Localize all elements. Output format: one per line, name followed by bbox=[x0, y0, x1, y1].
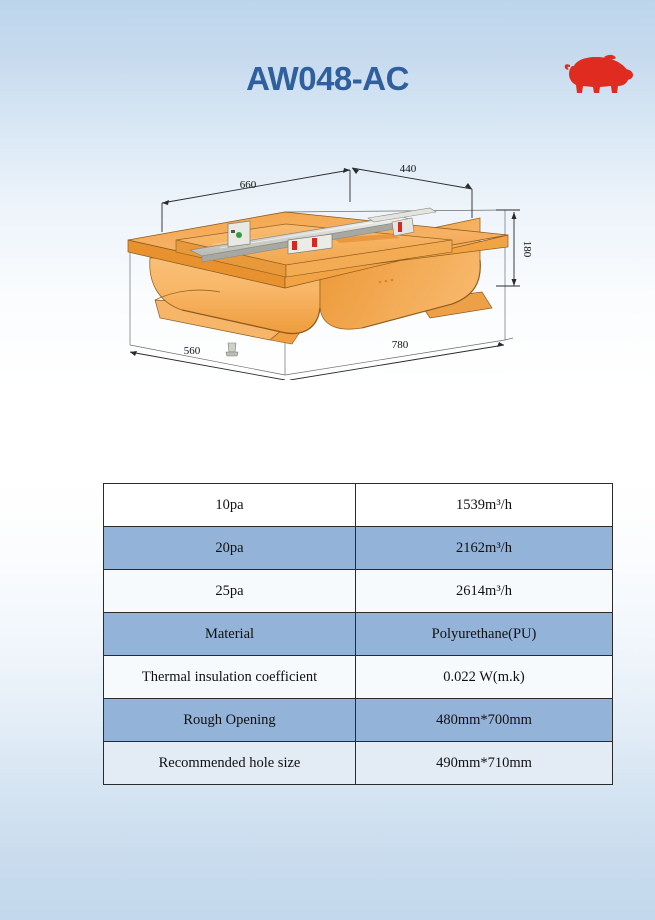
spec-label-cell: Recommended hole size bbox=[104, 742, 356, 785]
product-datasheet-page: AW048-AC bbox=[0, 0, 655, 920]
spec-value-cell: 2162m³/h bbox=[356, 527, 613, 570]
spec-value-cell: 490mm*710mm bbox=[356, 742, 613, 785]
table-row: Recommended hole size 490mm*710mm bbox=[104, 742, 613, 785]
dimension-label-660: 660 bbox=[240, 179, 257, 191]
spec-value-cell: Polyurethane(PU) bbox=[356, 613, 613, 656]
dimension-label-560: 560 bbox=[184, 345, 201, 357]
table-row: Material Polyurethane(PU) bbox=[104, 613, 613, 656]
spec-value-cell: 0.022 W(m.k) bbox=[356, 656, 613, 699]
table-row: 10pa 1539m³/h bbox=[104, 484, 613, 527]
dimension-label-780: 780 bbox=[392, 339, 409, 351]
spec-label-cell: Material bbox=[104, 613, 356, 656]
pig-logo-icon bbox=[560, 50, 634, 98]
dimension-label-180: 180 bbox=[521, 241, 533, 258]
spec-value-cell: 1539m³/h bbox=[356, 484, 613, 527]
page-header: AW048-AC bbox=[0, 0, 655, 140]
product-body bbox=[128, 208, 508, 356]
table-row: 20pa 2162m³/h bbox=[104, 527, 613, 570]
spec-label-cell: 25pa bbox=[104, 570, 356, 613]
spec-label-cell: Rough Opening bbox=[104, 699, 356, 742]
spec-label-cell: Thermal insulation coefficient bbox=[104, 656, 356, 699]
spec-label-cell: 20pa bbox=[104, 527, 356, 570]
page-title: AW048-AC bbox=[0, 58, 655, 100]
spec-value-cell: 480mm*700mm bbox=[356, 699, 613, 742]
table-row: 25pa 2614m³/h bbox=[104, 570, 613, 613]
spec-value-cell: 2614m³/h bbox=[356, 570, 613, 613]
dimension-label-440: 440 bbox=[400, 163, 417, 175]
specification-table: 10pa 1539m³/h 20pa 2162m³/h 25pa 2614m³/… bbox=[103, 483, 613, 785]
table-row: Rough Opening 480mm*700mm bbox=[104, 699, 613, 742]
spec-label-cell: 10pa bbox=[104, 484, 356, 527]
product-technical-drawing: 660 440 180 560 780 bbox=[100, 140, 560, 380]
table-row: Thermal insulation coefficient 0.022 W(m… bbox=[104, 656, 613, 699]
specification-table-body: 10pa 1539m³/h 20pa 2162m³/h 25pa 2614m³/… bbox=[104, 484, 613, 785]
